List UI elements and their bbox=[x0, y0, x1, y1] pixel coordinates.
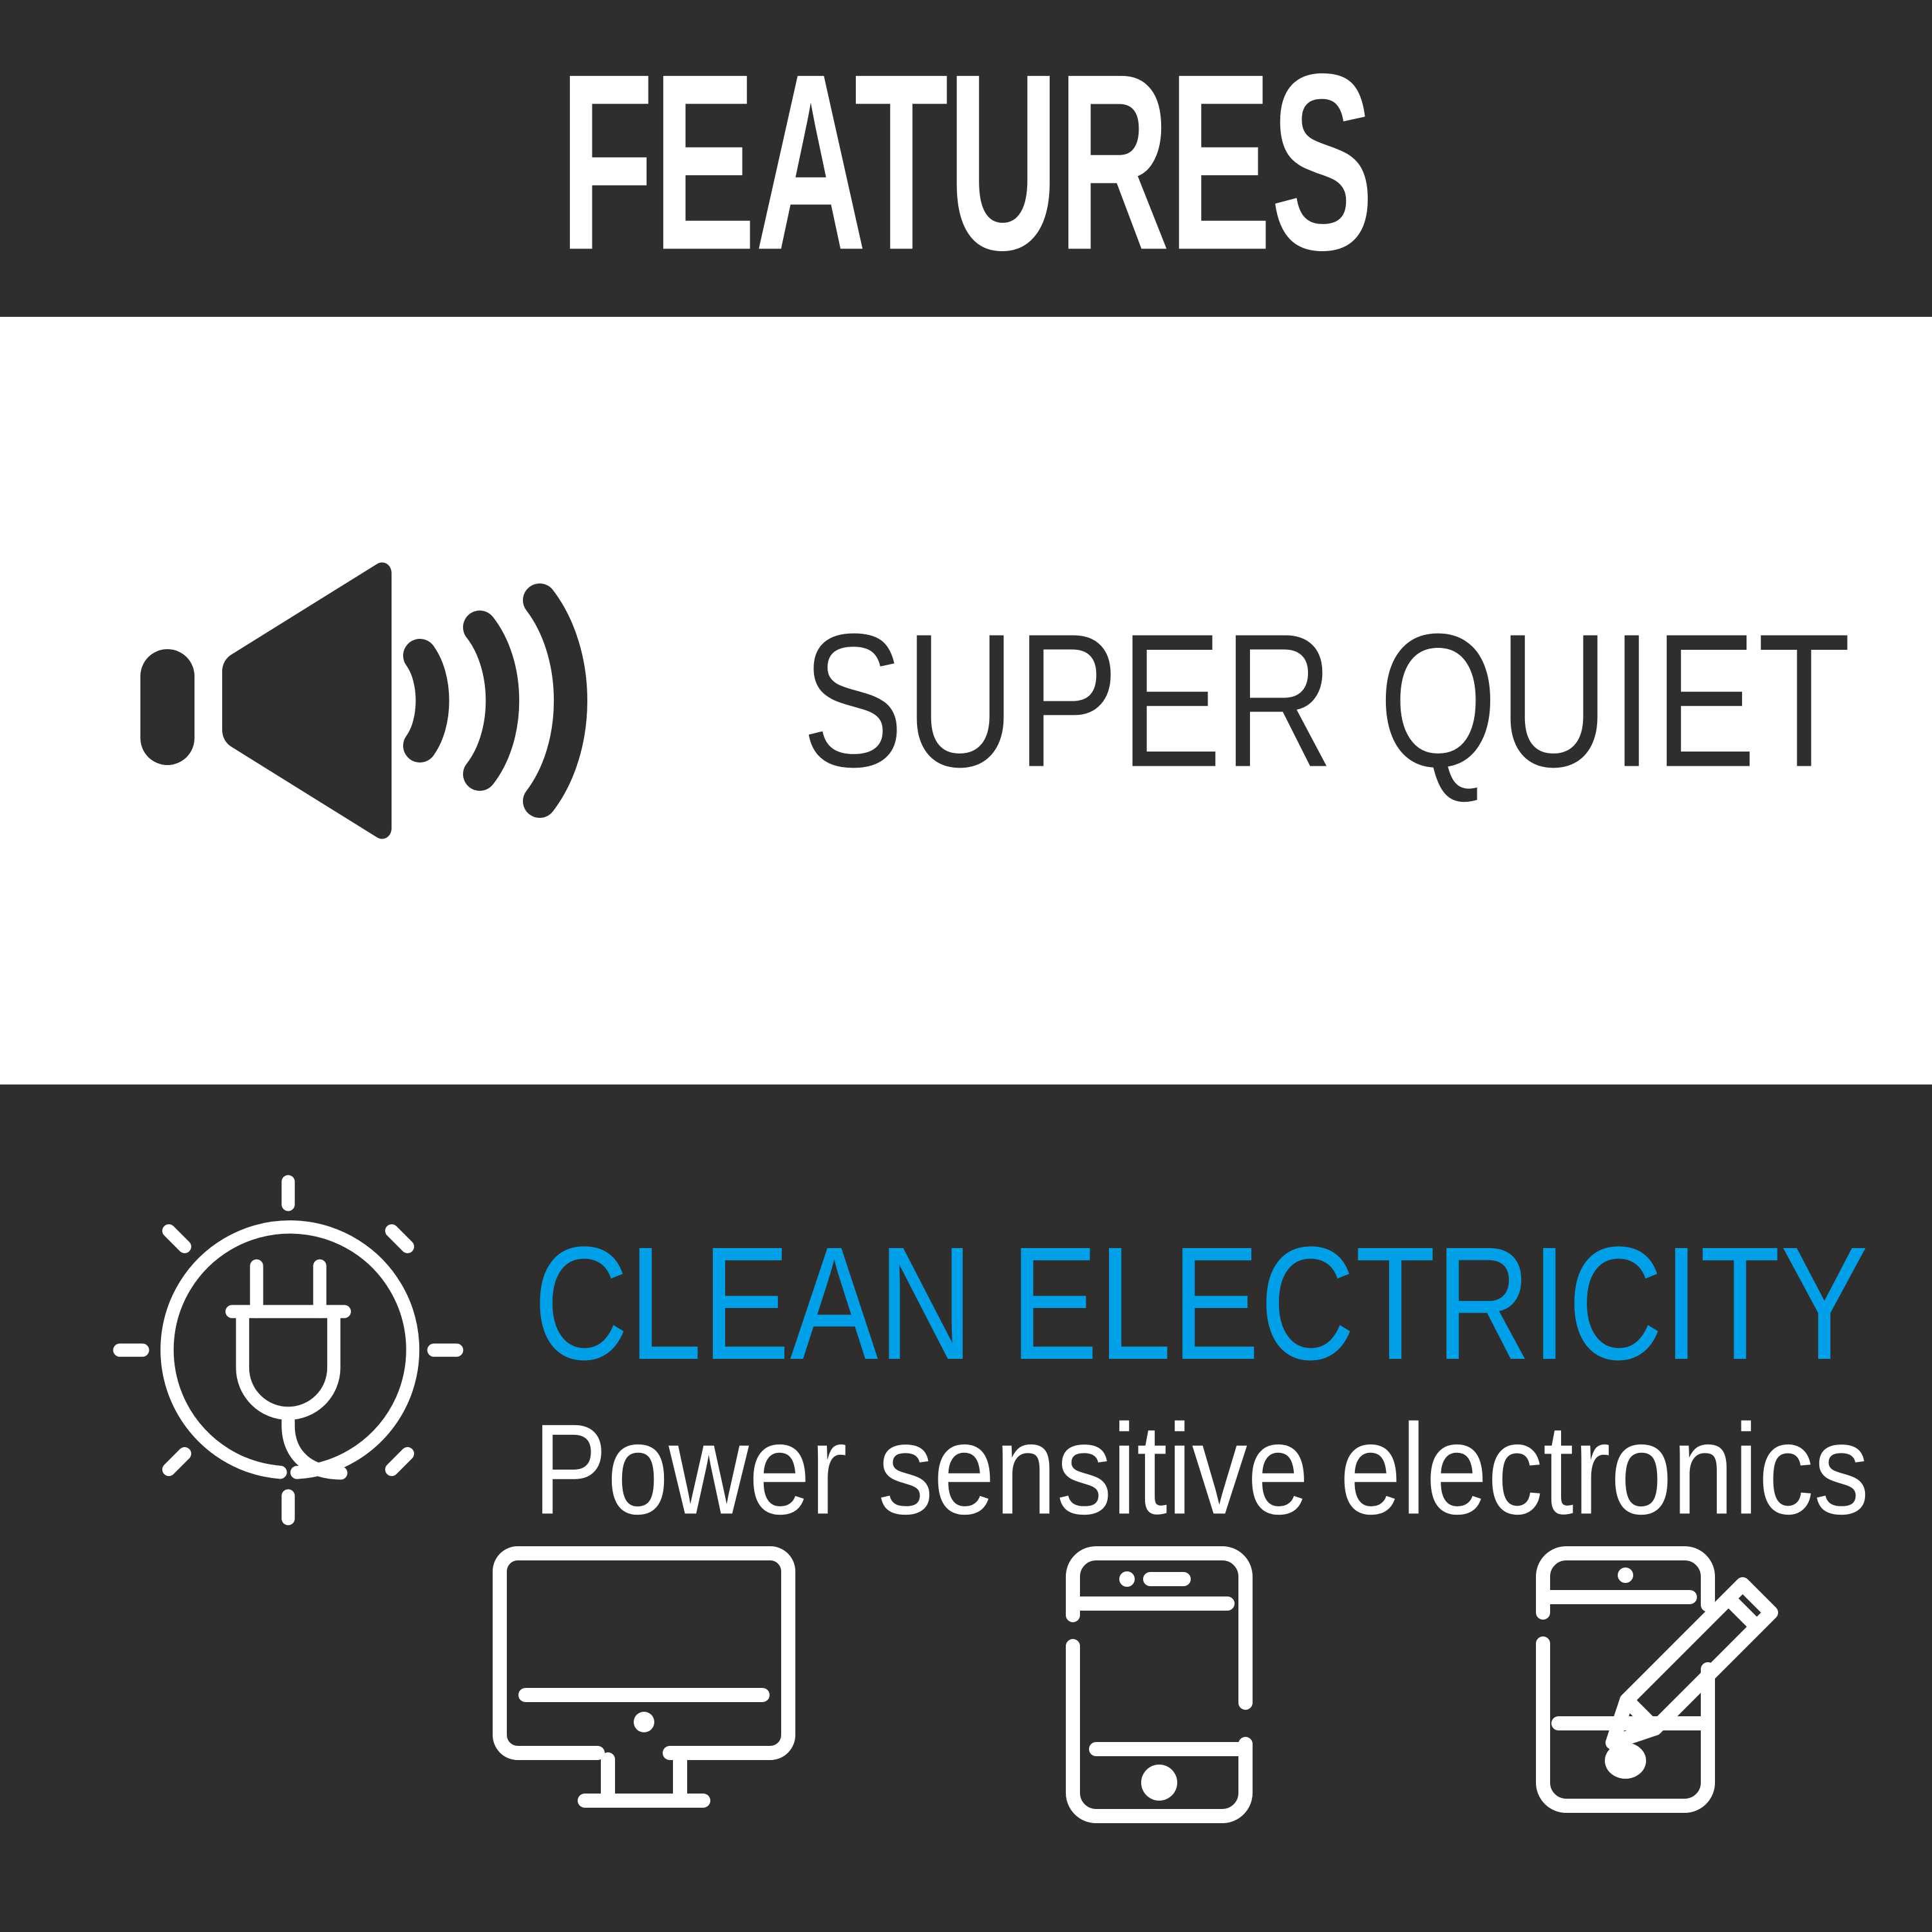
speaker-volume-icon-svg bbox=[129, 559, 605, 842]
device-item-monitor bbox=[477, 1543, 811, 1878]
feature-clean-electricity: CLEAN ELECTRICITY Power sensitive electr… bbox=[0, 1084, 1932, 1932]
feature-super-quiet: SUPER QUIET bbox=[0, 317, 1932, 1084]
monitor-indicator-dot bbox=[634, 1712, 654, 1732]
page-title: FEATURES bbox=[560, 64, 1373, 260]
tablet-stylus-icon bbox=[1533, 1543, 1803, 1826]
phone-home-button bbox=[1141, 1765, 1177, 1801]
tablet-home-button bbox=[1605, 1743, 1646, 1779]
features-infographic: FEATURES SUPER QUIET bbox=[0, 0, 1932, 1932]
sun-ray-ne bbox=[392, 1231, 408, 1247]
clean-electricity-text-block: CLEAN ELECTRICITY Power sensitive electr… bbox=[533, 1223, 1879, 1516]
plug-in-sun-icon-svg bbox=[113, 1175, 464, 1526]
speaker-volume-icon bbox=[129, 559, 605, 842]
plug-body bbox=[243, 1312, 334, 1414]
sun-ray-sw bbox=[169, 1454, 185, 1470]
feature-title-clean-electricity: CLEAN ELECTRICITY bbox=[533, 1223, 1879, 1384]
plug-in-sun-icon bbox=[113, 1175, 464, 1526]
sun-ray-nw bbox=[169, 1231, 185, 1247]
feature-subtitle-clean-electricity: Power sensitive electronics bbox=[533, 1405, 1879, 1534]
device-icon-row bbox=[477, 1543, 1829, 1878]
device-item-tablet bbox=[1507, 1543, 1829, 1878]
feature-title-super-quiet: SUPER QUIET bbox=[802, 606, 1852, 796]
device-item-phone bbox=[1024, 1543, 1294, 1878]
sun-ray-se bbox=[392, 1454, 408, 1470]
tablet-camera-dot bbox=[1618, 1567, 1633, 1583]
smartphone-icon bbox=[1063, 1543, 1256, 1826]
header-band: FEATURES bbox=[0, 0, 1932, 317]
desktop-monitor-icon bbox=[489, 1543, 799, 1826]
phone-camera-dot bbox=[1119, 1571, 1135, 1587]
